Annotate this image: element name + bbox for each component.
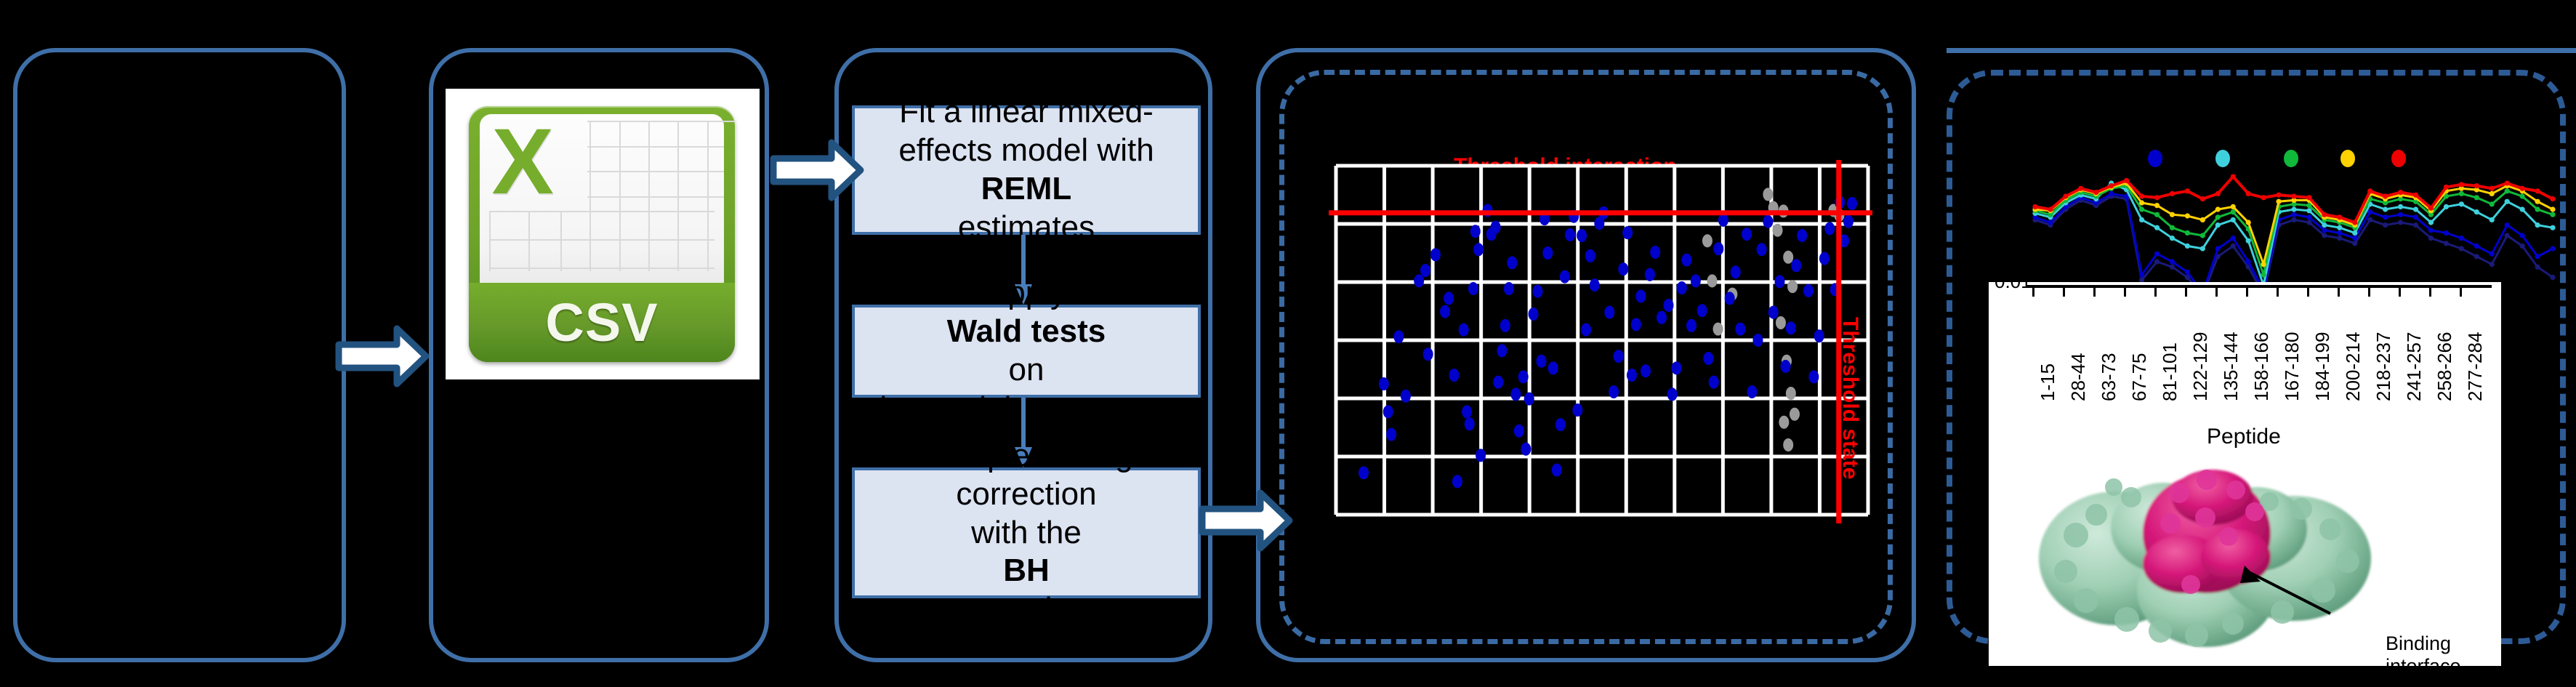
peptide-tick-12: 241-257 bbox=[2403, 332, 2426, 401]
step2-pre: Apply bbox=[871, 274, 1182, 313]
step-wald-tests-box[interactable]: Apply Wald tests on the model parameters bbox=[852, 305, 1201, 398]
step3-pre: with the bbox=[919, 514, 1132, 553]
peptide-tick-13: 258-266 bbox=[2434, 332, 2456, 401]
csv-format-band: CSV bbox=[469, 283, 735, 362]
spreadsheet-grid: X bbox=[480, 114, 725, 293]
peptide-tick-14: 277-284 bbox=[2464, 332, 2487, 401]
binding-interface-annotation: Binding interface bbox=[2386, 632, 2461, 678]
step1-line1: Fit a linear mixed- bbox=[898, 93, 1154, 132]
x-axis-title: Peptide bbox=[2207, 425, 2281, 449]
step3-line2: correction bbox=[919, 475, 1132, 514]
legend-dot-series-cyan bbox=[2215, 150, 2230, 167]
legend-dot-series-yellow bbox=[2340, 150, 2355, 167]
peptide-tick-mark-11 bbox=[2368, 288, 2370, 297]
step-multiple-testing-box[interactable]: Multiple testing correction with the BH … bbox=[852, 467, 1201, 598]
step3-line1: Multiple testing bbox=[919, 437, 1132, 475]
arrow-stats-to-results bbox=[1198, 487, 1294, 554]
peptide-tick-11: 218-237 bbox=[2372, 332, 2395, 401]
x-axis-line bbox=[2026, 285, 2492, 288]
threshold-state-label: Threshold state bbox=[1838, 317, 1862, 479]
peptide-tick-mark-8 bbox=[2277, 288, 2279, 297]
peptide-tick-6: 135-144 bbox=[2220, 332, 2242, 401]
step2-bold: Wald tests bbox=[947, 313, 1106, 349]
peptide-tick-1: 28-44 bbox=[2067, 353, 2090, 402]
peptide-tick-mark-0 bbox=[2032, 288, 2034, 297]
peptide-tick-9: 184-199 bbox=[2311, 332, 2334, 401]
excel-x-letter: X bbox=[491, 116, 553, 209]
peptide-tick-mark-10 bbox=[2338, 288, 2340, 297]
peptide-tick-mark-5 bbox=[2185, 288, 2187, 297]
peptide-tick-5: 122-129 bbox=[2189, 332, 2212, 401]
peptide-tick-mark-1 bbox=[2063, 288, 2065, 297]
y-tick-label: 0.01 bbox=[1995, 270, 2032, 293]
peptide-tick-mark-14 bbox=[2460, 288, 2462, 297]
arrow-into-input bbox=[334, 323, 430, 390]
peptide-tick-mark-9 bbox=[2307, 288, 2309, 297]
scatter-canvas bbox=[1308, 145, 1883, 531]
csv-label: CSV bbox=[545, 292, 658, 353]
peptide-tick-8: 167-180 bbox=[2281, 332, 2303, 401]
line-chart-legend bbox=[1999, 145, 2559, 174]
step-model-fit-box[interactable]: Fit a linear mixed- effects model with R… bbox=[852, 105, 1201, 235]
legend-dot-series-blue bbox=[2148, 150, 2162, 167]
arrow-csv-to-stats bbox=[769, 137, 865, 204]
binding-line1: Binding bbox=[2386, 632, 2461, 655]
peptide-tick-10: 200-214 bbox=[2342, 332, 2364, 401]
peptide-tick-mark-6 bbox=[2215, 288, 2218, 297]
peptide-tick-2: 63-73 bbox=[2098, 353, 2120, 402]
step3-line3: with the BH procedure bbox=[919, 514, 1132, 629]
peptide-tick-mark-7 bbox=[2246, 288, 2248, 297]
step3-post: procedure bbox=[919, 590, 1132, 629]
workflow-diagram: X CSV Fit a linear mixed- effects model … bbox=[0, 0, 2576, 687]
peptide-tick-mark-3 bbox=[2124, 288, 2126, 297]
step1-line2: effects model with bbox=[898, 132, 1154, 170]
peptide-tick-mark-2 bbox=[2093, 288, 2096, 297]
step2-line1: Apply Wald tests on bbox=[871, 274, 1182, 389]
peptide-tick-4: 81-101 bbox=[2159, 342, 2181, 401]
peptide-tick-mark-13 bbox=[2429, 288, 2431, 297]
input-data-panel bbox=[13, 48, 346, 662]
peptide-tick-mark-12 bbox=[2399, 288, 2401, 297]
peptide-tick-0: 1-15 bbox=[2037, 363, 2059, 401]
legend-dot-series-red bbox=[2391, 150, 2406, 167]
legend-dot-series-green bbox=[2284, 150, 2298, 167]
structure-white-card: 0.01 1-1528-4463-7367-7581-101122-129135… bbox=[1989, 282, 2501, 666]
structure-panel-top-rule bbox=[1947, 48, 2576, 53]
scatter-plot: Threshold interaction Threshold state bbox=[1308, 145, 1883, 531]
step3-bold: BH bbox=[1003, 553, 1050, 588]
csv-file-icon: X CSV bbox=[469, 106, 735, 362]
peptide-tick-mark-4 bbox=[2154, 288, 2157, 297]
step2-post: on bbox=[871, 351, 1182, 390]
step1-bold: REML bbox=[981, 171, 1072, 206]
binding-line2: interface bbox=[2386, 655, 2461, 678]
peptide-tick-3: 67-75 bbox=[2128, 353, 2151, 402]
csv-file-card: X CSV bbox=[447, 90, 758, 378]
peptide-tick-7: 158-166 bbox=[2250, 332, 2273, 401]
